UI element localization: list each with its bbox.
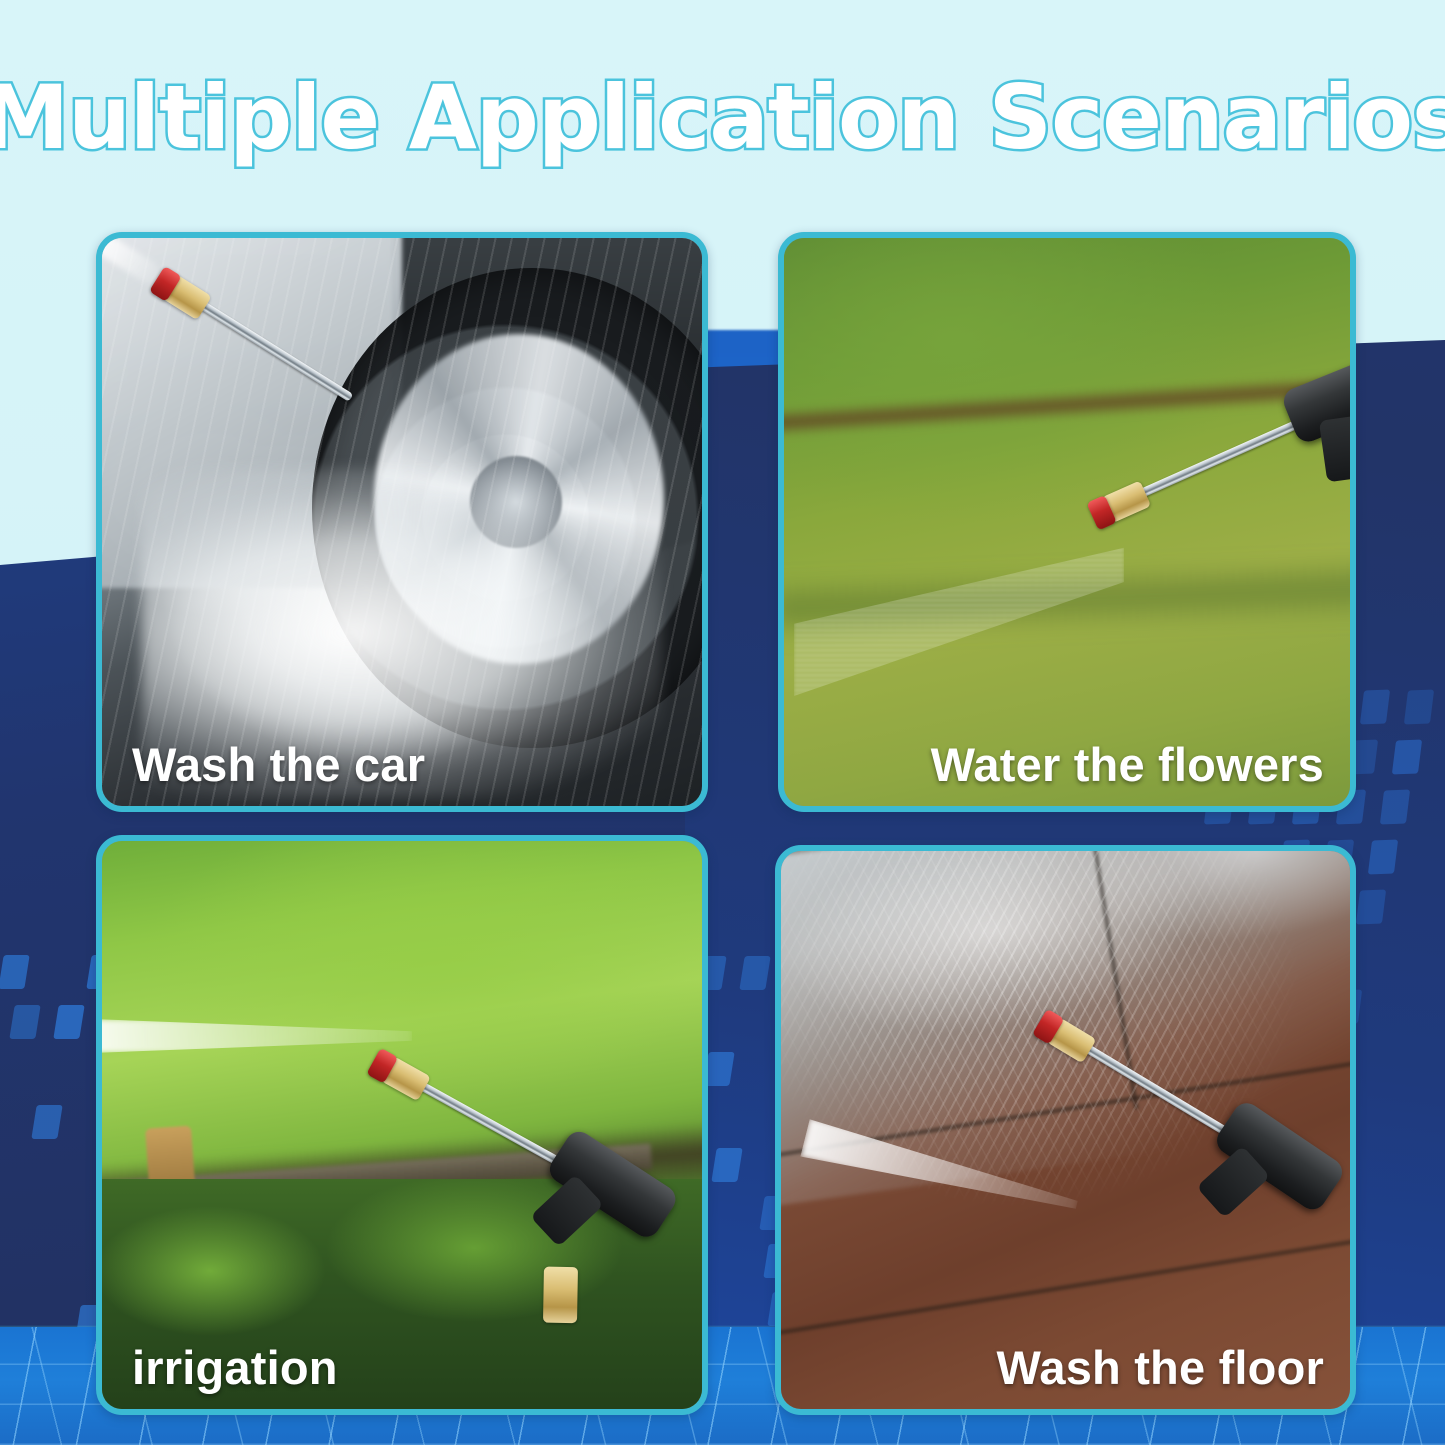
scenario-card-water-the-flowers[interactable]: Water the flowers	[778, 232, 1356, 812]
photo-irrigation	[102, 841, 702, 1409]
card-caption-irrigation: irrigation	[102, 1340, 702, 1409]
card-caption-water-the-flowers: Water the flowers	[784, 737, 1350, 806]
lance-icon	[1127, 418, 1304, 504]
photo-water-the-flowers	[784, 238, 1350, 806]
water-jet	[102, 1019, 412, 1053]
brass-hose-coupler-icon	[543, 1267, 578, 1324]
scenario-card-wash-the-floor[interactable]: Wash the floor	[775, 845, 1356, 1415]
photo-wash-the-floor	[781, 851, 1350, 1409]
scenario-card-wash-the-car[interactable]: Wash the car	[96, 232, 708, 812]
page-title: Multiple Application Scenarios	[0, 66, 1445, 169]
title-container: Multiple Application Scenarios	[0, 62, 1445, 172]
card-caption-wash-the-car: Wash the car	[102, 737, 702, 806]
card-caption-wash-the-floor: Wash the floor	[781, 1340, 1350, 1409]
background-branch-blur	[784, 371, 1350, 437]
photo-wash-the-car	[102, 238, 702, 806]
scenario-card-irrigation[interactable]: irrigation	[96, 835, 708, 1415]
poster-root: Multiple Application Scenarios Wash the …	[0, 0, 1445, 1445]
